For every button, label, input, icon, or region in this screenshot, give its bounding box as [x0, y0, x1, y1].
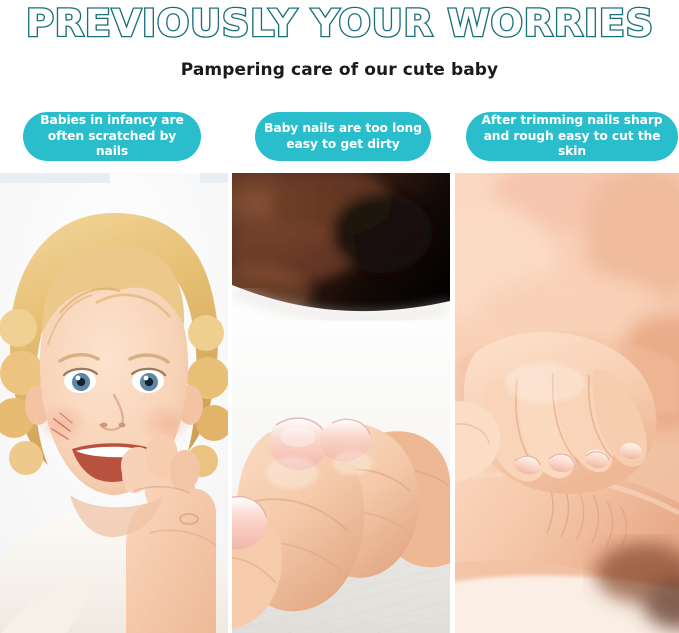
photo-panel-row: [0, 173, 679, 633]
badge-line-2: and rough easy to cut the skin: [484, 129, 661, 159]
page-title: PREVIOUSLY YOUR WORRIES: [26, 4, 654, 44]
badge-text: After trimming nails sharp and rough eas…: [474, 113, 670, 160]
badge-scratched-by-nails: Babies in infancy are often scratched by…: [23, 112, 201, 161]
page-subtitle: Pampering care of our cute baby: [0, 60, 679, 80]
badge-line-2: easy to get dirty: [286, 137, 399, 151]
photo-baby-hand-grip: [455, 173, 679, 633]
badge-line-1: Babies in infancy are: [40, 113, 183, 127]
promo-banner: PREVIOUSLY YOUR WORRIES Pampering care o…: [0, 0, 679, 633]
badge-nails-too-long: Baby nails are too long easy to get dirt…: [255, 112, 431, 161]
page-title-container: PREVIOUSLY YOUR WORRIES: [0, 0, 679, 48]
badge-sharp-rough-nails: After trimming nails sharp and rough eas…: [466, 112, 678, 161]
photo-baby-face: [0, 173, 228, 633]
badge-line-1: After trimming nails sharp: [482, 113, 663, 127]
photo-baby-hand-grip-illustration: [455, 173, 679, 633]
badge-line-1: Baby nails are too long: [264, 121, 422, 135]
photo-baby-long-nails: [232, 173, 450, 633]
badge-text: Baby nails are too long easy to get dirt…: [264, 121, 422, 152]
badge-text: Babies in infancy are often scratched by…: [31, 113, 193, 160]
photo-baby-long-nails-illustration: [232, 173, 450, 633]
photo-baby-face-illustration: [0, 173, 228, 633]
badge-row: Babies in infancy are often scratched by…: [0, 112, 679, 161]
badge-line-2: often scratched by nails: [48, 129, 176, 159]
